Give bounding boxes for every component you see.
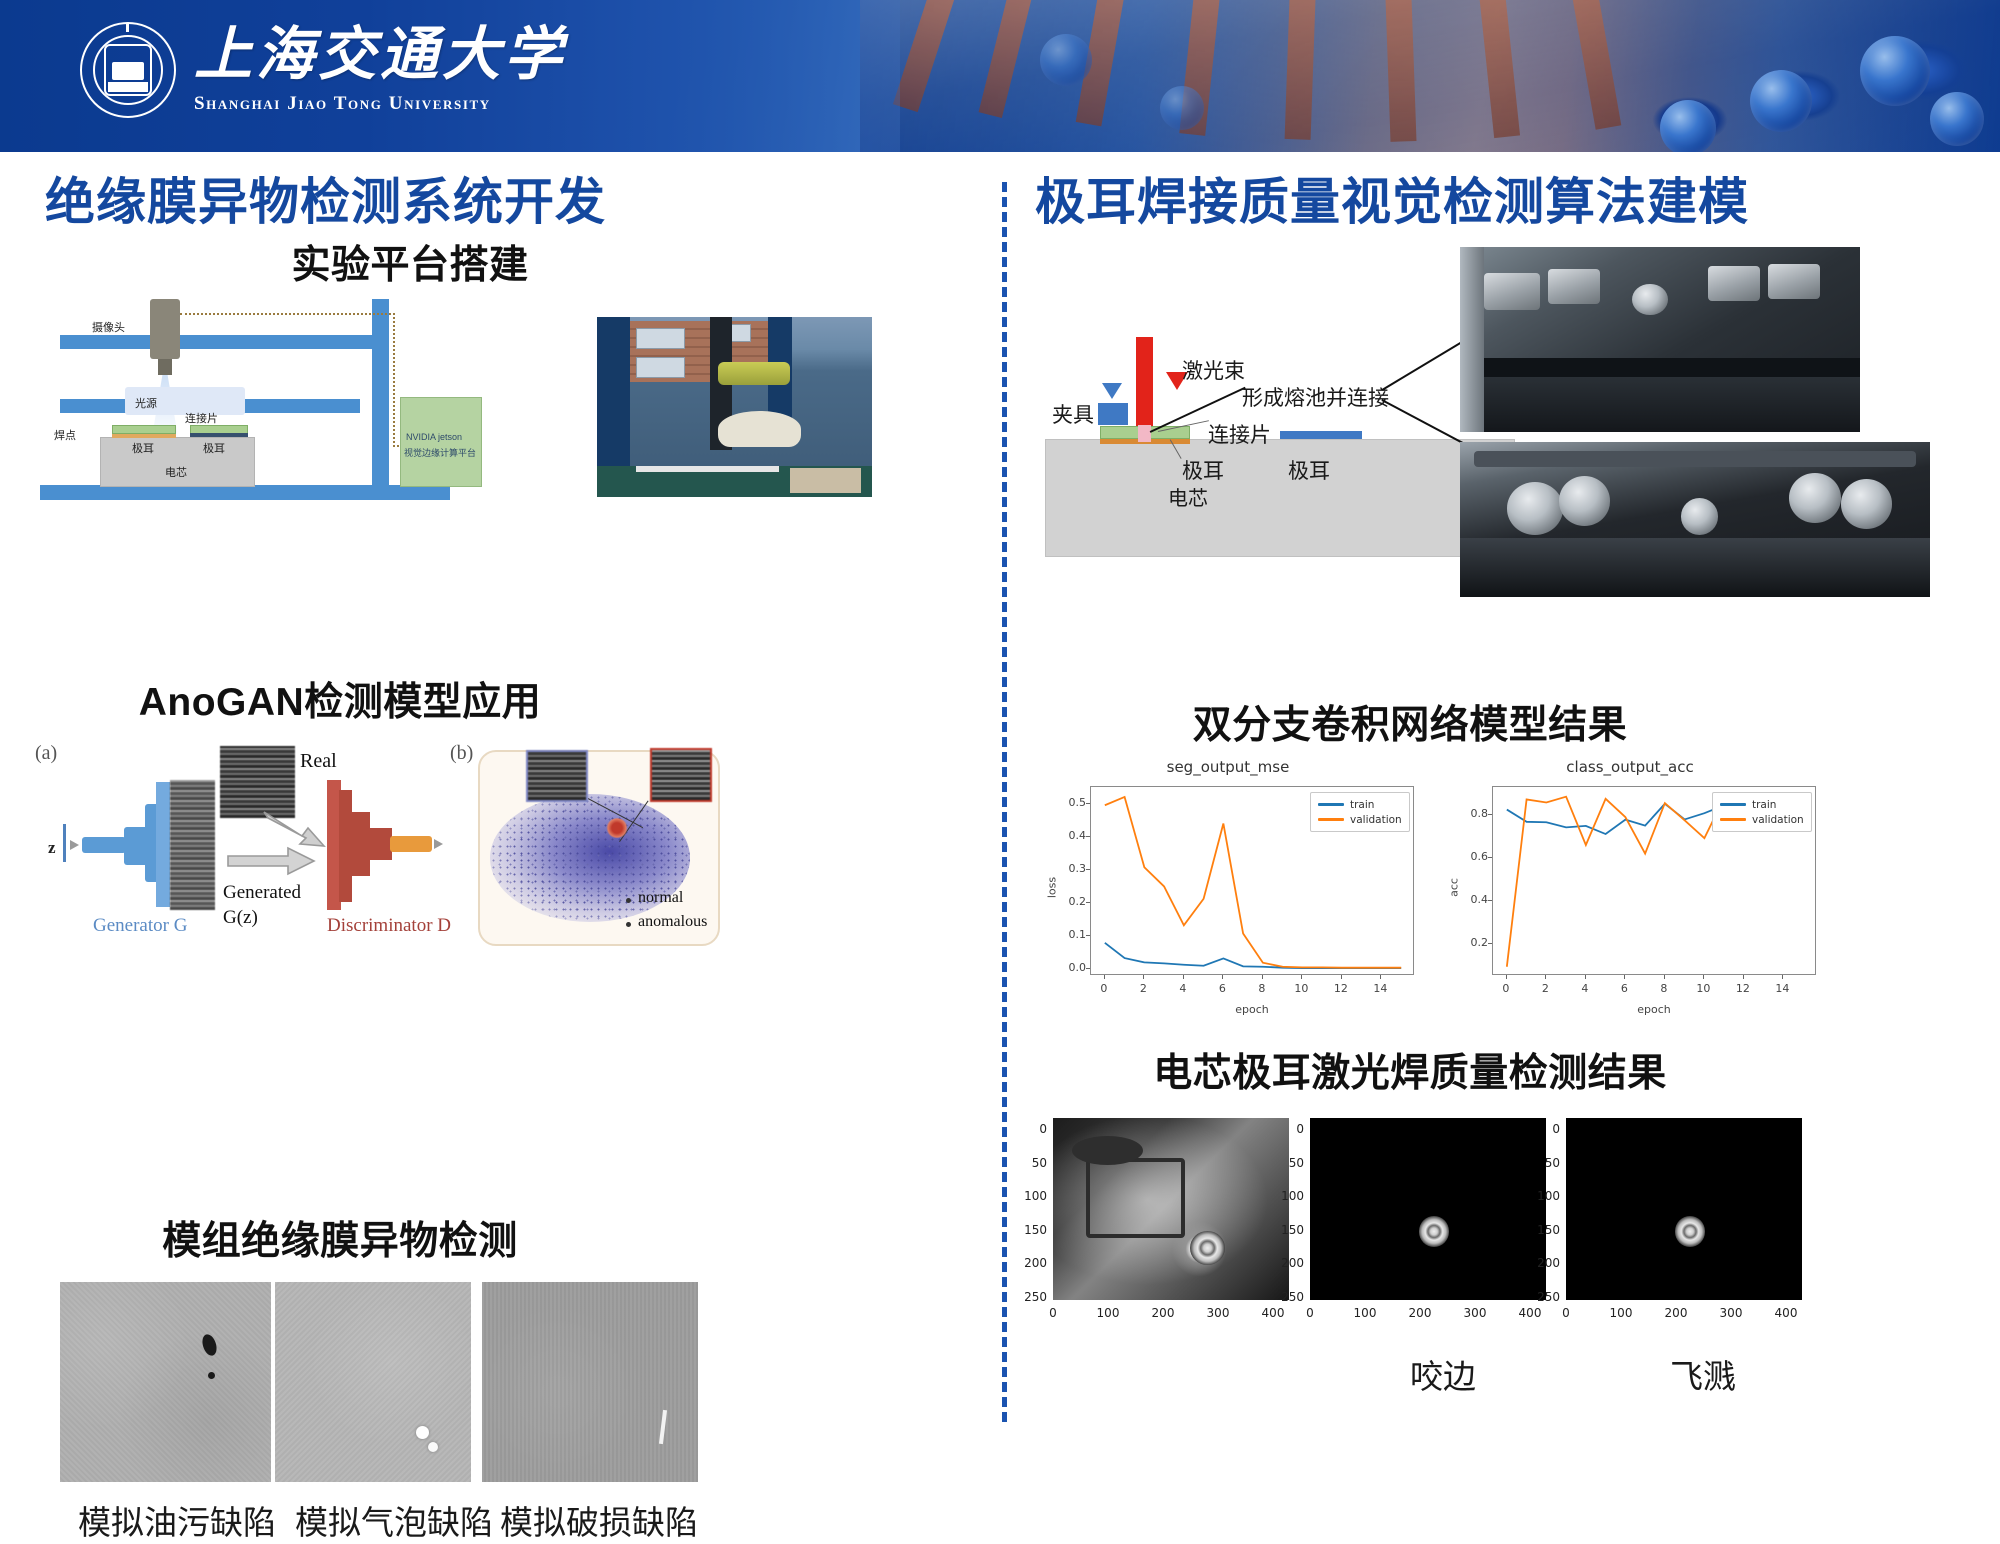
x-tick-label: 6 <box>1616 982 1632 995</box>
x-tick-label: 14 <box>1774 982 1790 995</box>
weld-label-melt-pool: 形成熔池并连接 <box>1242 382 1389 412</box>
result-y-tick: 200 <box>1268 1256 1304 1270</box>
x-tick-mark <box>1743 975 1744 979</box>
y-tick-mark <box>1086 902 1090 903</box>
label-weld-point: 焊点 <box>54 427 76 443</box>
result-y-tick: 0 <box>1011 1122 1047 1136</box>
legend-normal: normal <box>638 889 683 907</box>
x-tick-mark <box>1143 975 1144 979</box>
right-subtitle-network: 双分支卷积网络模型结果 <box>1100 694 1720 750</box>
result-y-tick: 150 <box>1011 1223 1047 1237</box>
result-y-tick: 100 <box>1524 1189 1560 1203</box>
weld-label-tab-left: 极耳 <box>1182 455 1224 485</box>
legend-swatch <box>1720 818 1746 820</box>
discriminator-layer-4 <box>368 828 392 860</box>
x-tick-label: 12 <box>1333 982 1349 995</box>
weld-spatter-mask <box>1566 1118 1802 1300</box>
weld-original-image <box>1053 1118 1289 1300</box>
x-tick-label: 12 <box>1735 982 1751 995</box>
right-section-title: 极耳焊接质量视觉检测算法建模 <box>1035 162 1749 234</box>
rail-base <box>40 485 450 500</box>
real-arrow-icon <box>262 806 332 848</box>
label-camera: 摄像头 <box>92 319 125 335</box>
result-y-tick: 250 <box>1524 1290 1560 1304</box>
x-tick-mark <box>1301 975 1302 979</box>
result-y-tick: 100 <box>1011 1189 1047 1203</box>
platform-schematic: 摄像头 光源 焊点 连接片 极耳 极耳 电芯 NVIDIA jetson 视觉边… <box>40 287 540 502</box>
latent-bar <box>63 824 66 862</box>
generated-label-2: G(z) <box>223 907 258 929</box>
y-tick-mark <box>1086 968 1090 969</box>
right-column: 极耳焊接质量视觉检测算法建模 电芯 激光束 夹具 连接片 极耳 极耳 形成熔池并… <box>1010 152 2000 1500</box>
y-tick-label: 0.8 <box>1458 807 1488 820</box>
clamp-direction-arrow-icon <box>1102 383 1122 399</box>
x-axis-label: epoch <box>1090 1003 1414 1016</box>
defect-caption-bubble: 模拟气泡缺陷 <box>295 1496 493 1544</box>
weld-dark-right <box>190 433 248 437</box>
discriminator-label: Discriminator D <box>327 915 451 937</box>
label-cell: 电芯 <box>165 464 187 480</box>
left-subtitle-platform: 实验平台搭建 <box>150 234 670 290</box>
y-tick-label: 0.1 <box>1056 928 1086 941</box>
label-tab-left: 极耳 <box>132 440 154 456</box>
weld-spot-marker <box>1675 1216 1706 1247</box>
x-tick-mark <box>1782 975 1783 979</box>
y-tick-label: 0.6 <box>1458 850 1488 863</box>
result-x-tick: 300 <box>1206 1306 1230 1320</box>
chart-legend: trainvalidation <box>1310 792 1410 832</box>
y-tick-mark <box>1488 857 1492 858</box>
result-y-tick: 50 <box>1524 1156 1560 1170</box>
latent-z-label: z <box>48 838 56 858</box>
y-tick-label: 0.2 <box>1458 936 1488 949</box>
x-tick-label: 4 <box>1577 982 1593 995</box>
lab-setup-photo <box>597 317 872 497</box>
scatter-inset-anomalous <box>650 748 712 802</box>
result-caption-undercut: 咬边 <box>1410 1350 1476 1398</box>
generator-label: Generator G <box>93 915 187 937</box>
y-tick-mark <box>1086 935 1090 936</box>
x-tick-mark <box>1380 975 1381 979</box>
bracket-outline <box>1086 1158 1185 1238</box>
scatter-inset-normal <box>526 750 588 802</box>
x-tick-label: 2 <box>1537 982 1553 995</box>
result-x-tick: 100 <box>1353 1306 1377 1320</box>
label-connector: 连接片 <box>185 410 218 426</box>
result-x-tick: 400 <box>1774 1306 1798 1320</box>
left-subtitle-anogan: AnoGAN检测模型应用 <box>80 671 600 727</box>
battery-photo-top <box>1460 247 1860 432</box>
y-axis-label: acc <box>1448 867 1461 907</box>
label-light-source: 光源 <box>135 395 157 411</box>
x-tick-label: 8 <box>1656 982 1672 995</box>
defect-image-bubble <box>275 1282 471 1482</box>
legend-label: validation <box>1752 814 1804 826</box>
y-tick-label: 0.4 <box>1458 893 1488 906</box>
legend-item: train <box>1720 797 1804 812</box>
x-tick-label: 0 <box>1498 982 1514 995</box>
clamp-block <box>1098 403 1128 425</box>
chart-title: seg_output_mse <box>1028 758 1428 776</box>
dark-region <box>1072 1136 1143 1165</box>
x-tick-label: 4 <box>1175 982 1191 995</box>
legend-swatch <box>1318 803 1344 805</box>
generator-layer-1 <box>82 837 126 853</box>
y-tick-mark <box>1488 900 1492 901</box>
weld-tab-right-plate <box>1280 431 1362 439</box>
legend-label: train <box>1752 799 1776 811</box>
x-tick-label: 0 <box>1096 982 1112 995</box>
weld-label-connector: 连接片 <box>1208 419 1271 449</box>
generator-layer-4 <box>156 782 170 907</box>
tab-plate-left <box>112 425 176 434</box>
legend-label: validation <box>1350 814 1402 826</box>
y-tick-mark <box>1086 869 1090 870</box>
chart-legend: trainvalidation <box>1712 792 1812 832</box>
result-panel-spatter: 0501001502002500100200300400 <box>1518 1112 1838 1342</box>
legend-swatch <box>1318 818 1344 820</box>
anomaly-cluster <box>606 818 628 838</box>
x-tick-mark <box>1624 975 1625 979</box>
legend-label: train <box>1350 799 1374 811</box>
x-tick-label: 14 <box>1372 982 1388 995</box>
defect-caption-damage: 模拟破损缺陷 <box>500 1496 698 1544</box>
panel-b-label: (b) <box>450 742 473 765</box>
result-x-tick: 300 <box>1719 1306 1743 1320</box>
legend-swatch <box>1720 803 1746 805</box>
university-logo: 上海交通大学 Shanghai Jiao Tong University <box>80 22 566 118</box>
x-tick-mark <box>1664 975 1665 979</box>
jetson-box: NVIDIA jetson 视觉边缘计算平台 <box>400 397 482 487</box>
latent-scatter-panel: normal anomalous <box>478 750 720 946</box>
y-tick-label: 0.3 <box>1056 862 1086 875</box>
label-tab-right: 极耳 <box>203 440 225 456</box>
signal-line-h <box>180 313 395 315</box>
weld-spot-marker <box>1419 1216 1450 1247</box>
discriminator-layer-3 <box>350 812 370 876</box>
result-x-tick: 200 <box>1151 1306 1175 1320</box>
label-jetson-1: NVIDIA jetson <box>406 432 462 442</box>
camera-lens-icon <box>158 359 172 375</box>
result-x-tick: 0 <box>1554 1306 1578 1320</box>
y-tick-label: 0.4 <box>1056 829 1086 842</box>
x-tick-label: 2 <box>1135 982 1151 995</box>
result-x-tick: 100 <box>1096 1306 1120 1320</box>
defect-image-damage <box>482 1282 698 1482</box>
rail-vertical <box>372 299 389 487</box>
real-label: Real <box>300 750 337 773</box>
x-axis-label: epoch <box>1492 1003 1816 1016</box>
discriminator-arrow-icon <box>434 839 443 849</box>
result-y-tick: 0 <box>1524 1122 1560 1136</box>
x-tick-mark <box>1585 975 1586 979</box>
left-subtitle-detection: 模组绝缘膜异物检测 <box>80 1210 600 1266</box>
result-y-tick: 150 <box>1268 1223 1304 1237</box>
result-y-tick: 150 <box>1524 1223 1560 1237</box>
weld-label-fixture: 夹具 <box>1052 399 1094 429</box>
anogan-figure: (a) z Generator G Real Generated G(z) <box>30 742 720 957</box>
generated-label-1: Generated <box>223 882 301 904</box>
result-y-tick: 100 <box>1268 1189 1304 1203</box>
legend-item: validation <box>1318 812 1402 827</box>
x-tick-mark <box>1104 975 1105 979</box>
x-tick-mark <box>1183 975 1184 979</box>
result-x-tick: 300 <box>1463 1306 1487 1320</box>
university-name-cn: 上海交通大学 <box>194 26 566 84</box>
defect-image-oil <box>60 1282 271 1482</box>
x-tick-mark <box>1341 975 1342 979</box>
result-x-tick: 100 <box>1609 1306 1633 1320</box>
generated-arrow-icon <box>226 846 318 876</box>
university-name-en: Shanghai Jiao Tong University <box>194 93 566 115</box>
slide-body: 绝缘膜异物检测系统开发 实验平台搭建 摄像头 光源 焊点 连接片 极耳 <box>0 152 2000 1500</box>
chart-seg-output-mse: seg_output_mse024681012140.00.10.20.30.4… <box>1028 752 1428 1027</box>
y-axis-label: loss <box>1046 867 1059 907</box>
signal-line-v <box>393 313 395 447</box>
left-section-title: 绝缘膜异物检测系统开发 <box>45 162 606 234</box>
x-tick-mark <box>1262 975 1263 979</box>
y-tick-label: 0.0 <box>1056 961 1086 974</box>
camera-body <box>150 299 180 359</box>
result-y-tick: 50 <box>1268 1156 1304 1170</box>
panel-a-label: (a) <box>35 742 57 765</box>
rail-upper <box>60 335 380 349</box>
sjtu-seal-icon <box>80 22 176 118</box>
label-jetson-2: 视觉边缘计算平台 <box>404 446 476 459</box>
y-tick-label: 0.5 <box>1056 796 1086 809</box>
weld-label-tab-right: 极耳 <box>1288 455 1330 485</box>
x-tick-label: 8 <box>1254 982 1270 995</box>
y-tick-mark <box>1488 943 1492 944</box>
y-tick-label: 0.2 <box>1056 895 1086 908</box>
chart-title: class_output_acc <box>1430 758 1830 776</box>
weld-cell-block <box>1045 439 1515 557</box>
x-tick-mark <box>1545 975 1546 979</box>
right-subtitle-results: 电芯极耳激光焊质量检测结果 <box>1090 1042 1730 1098</box>
y-tick-mark <box>1488 814 1492 815</box>
x-tick-label: 10 <box>1695 982 1711 995</box>
y-tick-mark <box>1086 803 1090 804</box>
left-column: 绝缘膜异物检测系统开发 实验平台搭建 摄像头 光源 焊点 连接片 极耳 <box>0 152 1000 1500</box>
result-caption-spatter: 飞溅 <box>1670 1350 1736 1398</box>
result-y-tick: 250 <box>1011 1290 1047 1304</box>
result-x-tick: 0 <box>1298 1306 1322 1320</box>
x-tick-label: 6 <box>1214 982 1230 995</box>
generated-image-patch <box>170 780 215 910</box>
battery-photo-bottom <box>1460 442 1930 597</box>
latent-arrow-icon <box>70 840 79 850</box>
x-tick-label: 10 <box>1293 982 1309 995</box>
result-x-tick: 200 <box>1408 1306 1432 1320</box>
melt-pool-shape <box>1138 425 1151 442</box>
y-tick-mark <box>1086 836 1090 837</box>
legend-anomalous: anomalous <box>638 913 707 931</box>
defect-caption-oil: 模拟油污缺陷 <box>78 1496 276 1544</box>
weld-undercut-mask <box>1310 1118 1546 1300</box>
weld-spot-marker <box>1190 1231 1225 1266</box>
banner-background-photo <box>860 0 2000 152</box>
x-tick-mark <box>1222 975 1223 979</box>
result-y-tick: 200 <box>1011 1256 1047 1270</box>
result-y-tick: 50 <box>1011 1156 1047 1170</box>
result-y-tick: 200 <box>1524 1256 1560 1270</box>
chart-class-output-acc: class_output_acc024681012140.20.40.60.8e… <box>1430 752 1830 1027</box>
result-y-tick: 250 <box>1268 1290 1304 1304</box>
weld-label-laser: 激光束 <box>1182 355 1245 385</box>
x-tick-mark <box>1703 975 1704 979</box>
legend-item: validation <box>1720 812 1804 827</box>
legend-item: train <box>1318 797 1402 812</box>
x-tick-mark <box>1506 975 1507 979</box>
result-x-tick: 200 <box>1664 1306 1688 1320</box>
discriminator-output <box>390 836 432 852</box>
result-x-tick: 0 <box>1041 1306 1065 1320</box>
result-y-tick: 0 <box>1268 1122 1304 1136</box>
header-banner: 上海交通大学 Shanghai Jiao Tong University <box>0 0 2000 152</box>
laser-beam-shape <box>1136 337 1153 429</box>
weld-label-cell: 电芯 <box>1168 482 1208 511</box>
